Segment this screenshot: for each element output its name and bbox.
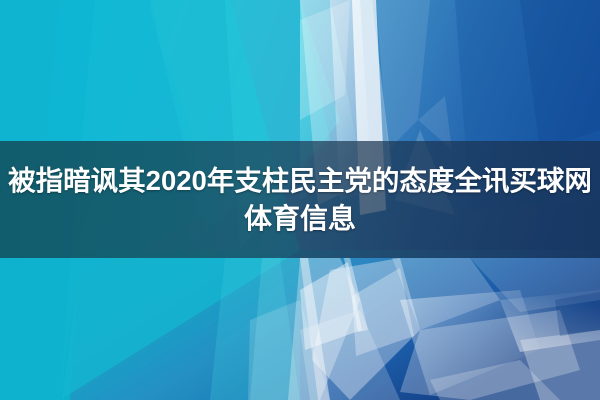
caption-block: 被指暗讽其2020年支柱民主党的态度全讯买球网 体育信息 xyxy=(0,141,600,258)
promo-banner: 被指暗讽其2020年支柱民主党的态度全讯买球网 体育信息 xyxy=(0,0,600,400)
caption-line-2: 体育信息 xyxy=(244,201,356,237)
caption-line-1: 被指暗讽其2020年支柱民主党的态度全讯买球网 xyxy=(8,163,592,199)
